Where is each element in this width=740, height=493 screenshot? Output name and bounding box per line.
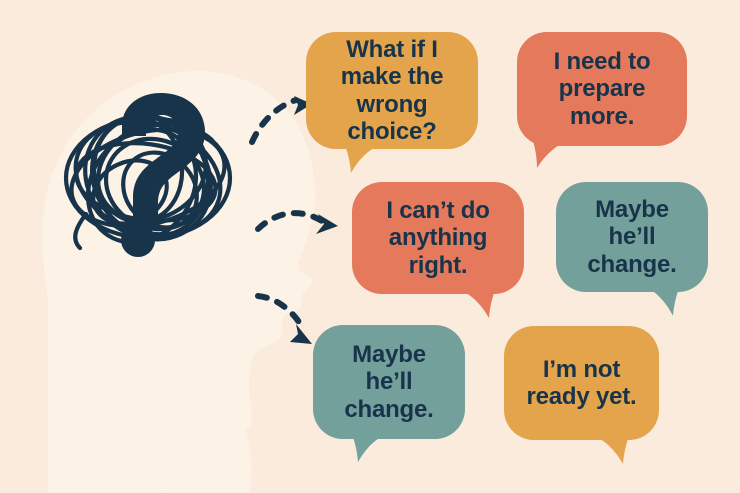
- bubble-tail-icon: [525, 132, 571, 172]
- bubble-tail-icon: [590, 426, 636, 466]
- arrow-head-2: [316, 214, 338, 234]
- ear-shadow: [160, 430, 251, 493]
- speech-bubble-cant-do-anything[interactable]: I can’t do anything right.: [352, 182, 524, 294]
- bubble-text: I need to prepare more.: [546, 48, 659, 130]
- speech-bubble-maybe-hell-change-bottom[interactable]: Maybe he’ll change.: [313, 325, 465, 439]
- speech-bubble-maybe-hell-change-top[interactable]: Maybe he’ll change.: [556, 182, 708, 292]
- head-silhouette: [42, 71, 315, 493]
- bubble-text: I can’t do anything right.: [378, 197, 497, 279]
- speech-bubble-what-if[interactable]: What if I make the wrong choice?: [306, 32, 478, 149]
- question-mark: [121, 93, 205, 257]
- speech-bubble-prepare-more[interactable]: I need to prepare more.: [517, 32, 687, 146]
- bubble-tail-icon: [456, 280, 502, 320]
- arrow-to-bubble-3: [258, 213, 322, 229]
- arrow-to-bubble-1: [252, 100, 296, 142]
- tangled-scribble: [60, 91, 236, 265]
- bubble-text: What if I make the wrong choice?: [306, 36, 478, 145]
- illustration-canvas: What if I make the wrong choice? I need …: [0, 0, 740, 493]
- bubble-text: I’m not ready yet.: [518, 356, 644, 411]
- arrow-head-3: [290, 324, 312, 344]
- bubble-tail-icon: [345, 425, 391, 465]
- bubble-tail-icon: [642, 278, 688, 318]
- bubble-text: Maybe he’ll change.: [336, 341, 441, 423]
- speech-bubble-not-ready-yet[interactable]: I’m not ready yet.: [504, 326, 659, 440]
- bubble-text: Maybe he’ll change.: [579, 196, 684, 278]
- arrow-to-bubble-5: [258, 296, 304, 330]
